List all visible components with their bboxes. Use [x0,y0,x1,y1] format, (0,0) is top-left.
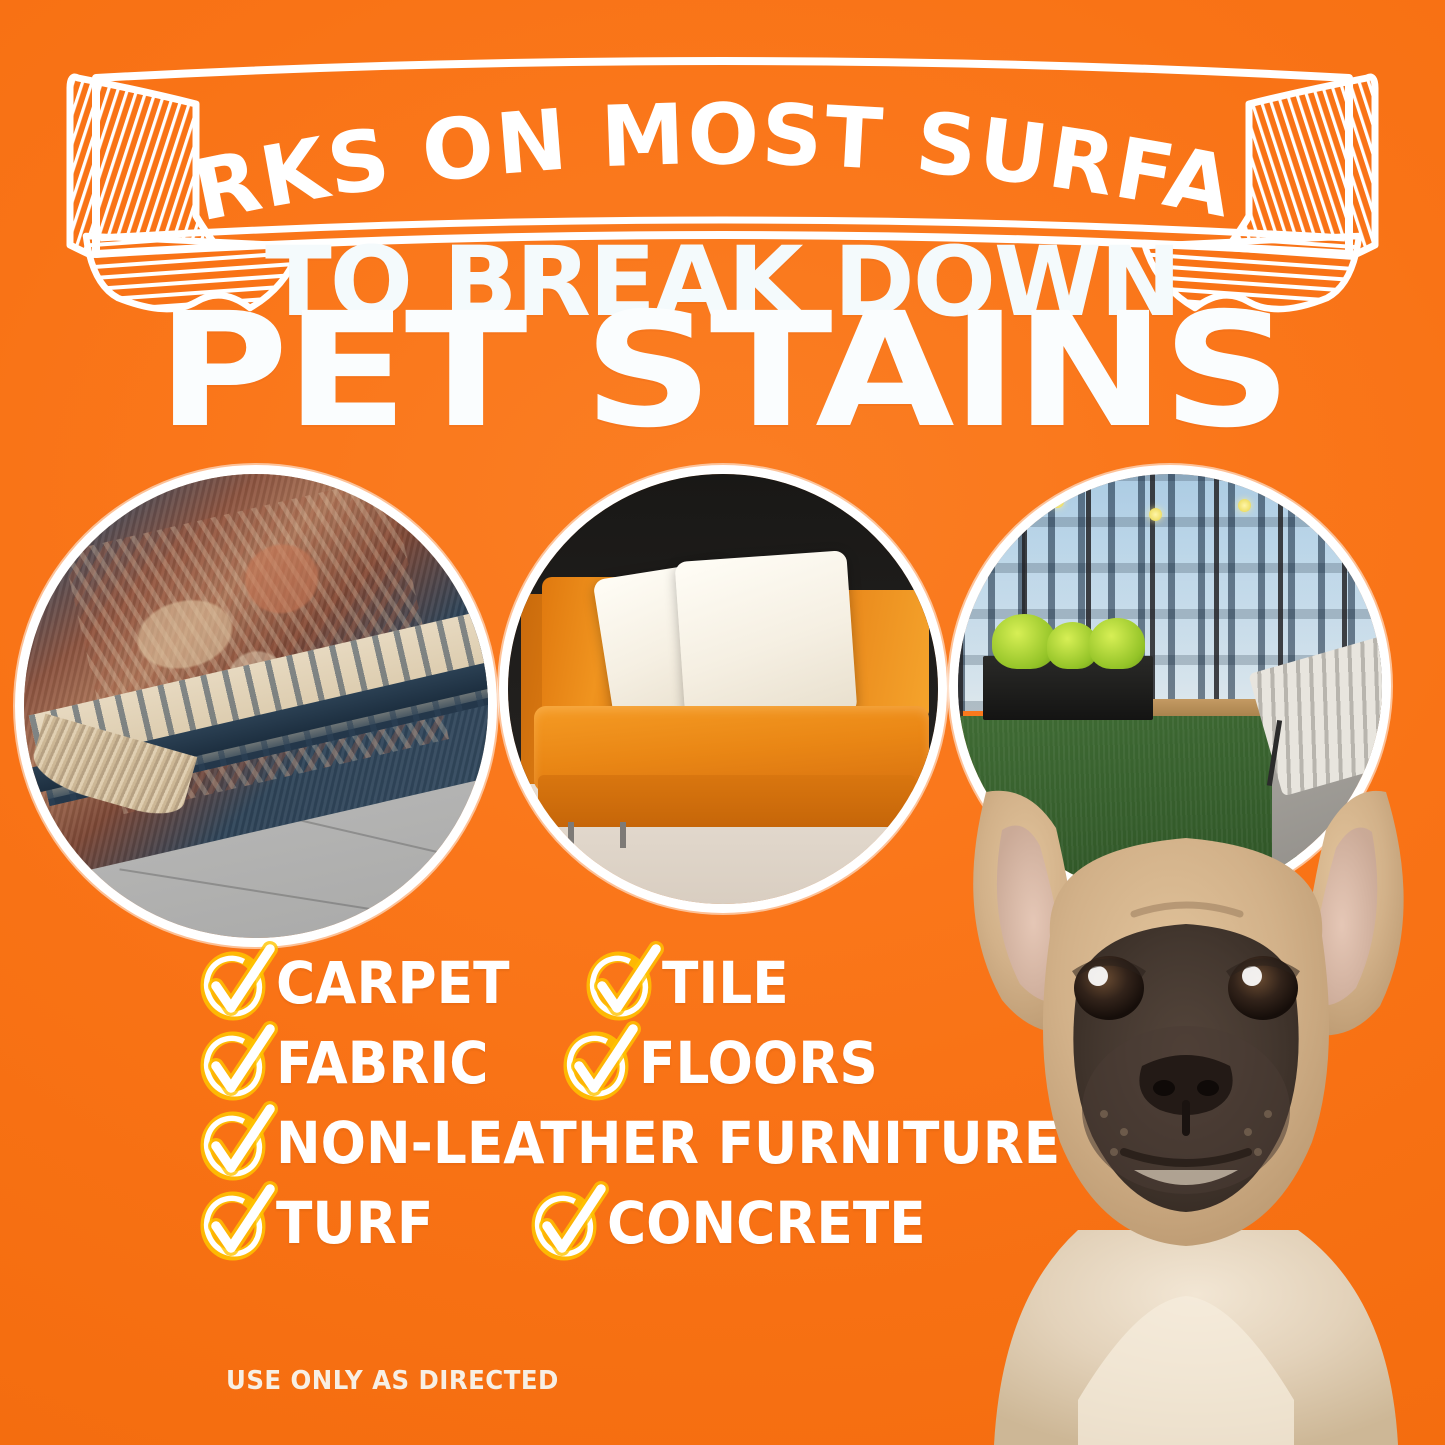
list-item-label: FABRIC [276,1034,488,1092]
list-item-label: CONCRETE [607,1194,926,1252]
list-item-label: TILE [662,954,789,1012]
list-item: TURF [200,1192,447,1254]
check-circle-icon [586,952,648,1014]
list-item: FLOORS [563,1032,899,1094]
page-title: PET STAINS [0,292,1445,450]
banner: WORKS ON MOST SURFACES TO BREAK DOWN [0,40,1445,320]
check-circle-icon [200,1192,262,1254]
list-item: TILE [586,952,800,1014]
check-circle-icon [200,1112,262,1174]
dog-photo [928,700,1445,1445]
product-feature-poster: WORKS ON MOST SURFACES TO BREAK DOWN PET… [0,0,1445,1445]
list-item-label: TURF [276,1194,433,1252]
photo-sofa [508,474,938,904]
list-item-label: CARPET [276,954,510,1012]
list-item: CONCRETE [531,1192,953,1254]
list-item: CARPET [200,952,530,1014]
check-circle-icon [200,952,262,1014]
fineprint-disclaimer: USE ONLY AS DIRECTED [226,1366,559,1396]
list-item: FABRIC [200,1032,507,1094]
check-circle-icon [563,1032,625,1094]
photo-rug [24,474,488,938]
check-circle-icon [531,1192,593,1254]
list-item-label: FLOORS [639,1034,878,1092]
check-circle-icon [200,1032,262,1094]
